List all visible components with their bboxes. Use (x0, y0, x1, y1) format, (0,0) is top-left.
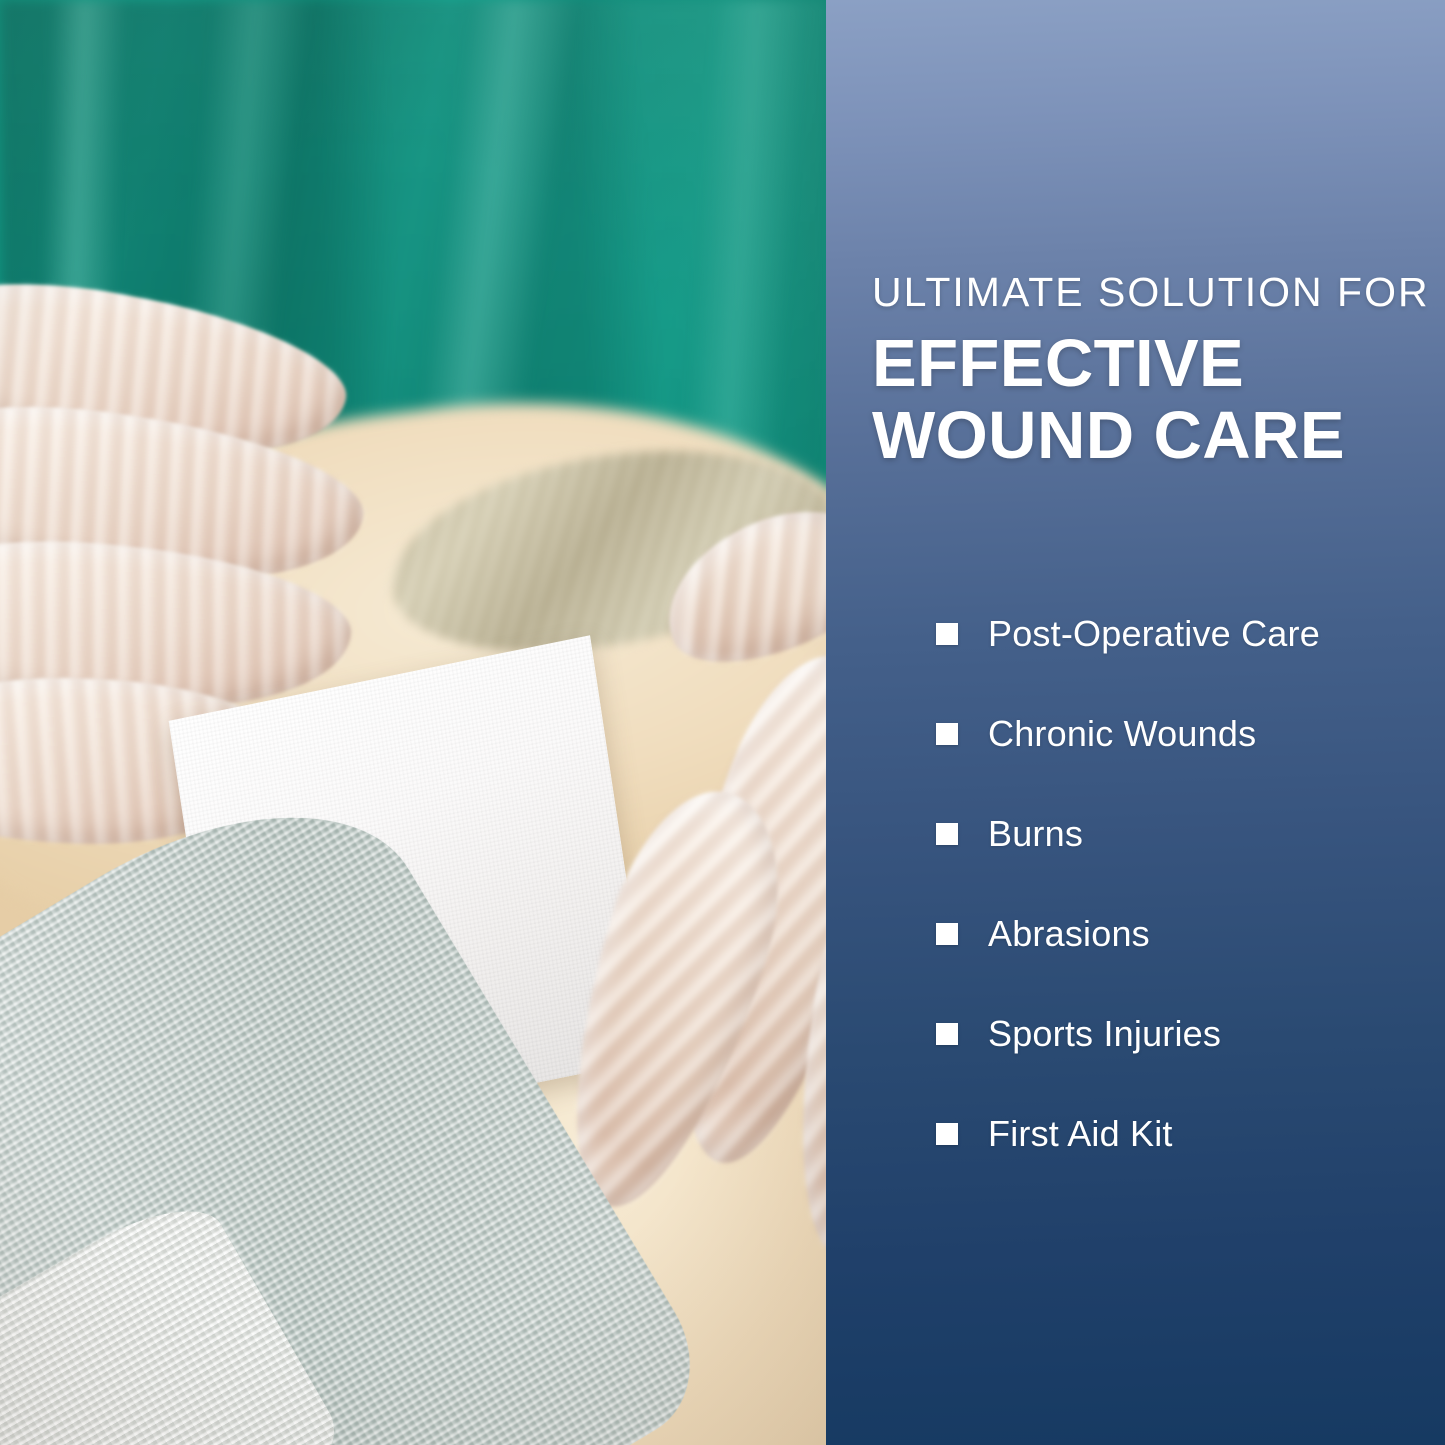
benefit-label: Burns (988, 816, 1083, 852)
square-bullet-icon (936, 1123, 958, 1145)
benefit-label: Post-Operative Care (988, 616, 1320, 652)
kicker-text: ULTIMATE SOLUTION FOR (872, 272, 1432, 313)
square-bullet-icon (936, 723, 958, 745)
headline-line-2: WOUND CARE (872, 400, 1432, 472)
benefit-label: Chronic Wounds (988, 716, 1256, 752)
gloved-right-hand (600, 530, 826, 1250)
list-item: Chronic Wounds (936, 684, 1436, 784)
list-item: First Aid Kit (936, 1084, 1436, 1184)
product-feature-poster: ULTIMATE SOLUTION FOR EFFECTIVE WOUND CA… (0, 0, 1445, 1445)
list-item: Burns (936, 784, 1436, 884)
benefits-list: Post-Operative Care Chronic Wounds Burns… (936, 584, 1436, 1184)
square-bullet-icon (936, 1023, 958, 1045)
info-panel: ULTIMATE SOLUTION FOR EFFECTIVE WOUND CA… (826, 0, 1445, 1445)
list-item: Sports Injuries (936, 984, 1436, 1084)
list-item: Post-Operative Care (936, 584, 1436, 684)
benefit-label: Abrasions (988, 916, 1150, 952)
square-bullet-icon (936, 623, 958, 645)
square-bullet-icon (936, 923, 958, 945)
benefit-label: Sports Injuries (988, 1016, 1221, 1052)
square-bullet-icon (936, 823, 958, 845)
wound-care-photo (0, 0, 826, 1445)
page-title: EFFECTIVE WOUND CARE (872, 328, 1432, 471)
headline-block: ULTIMATE SOLUTION FOR EFFECTIVE WOUND CA… (872, 272, 1432, 471)
list-item: Abrasions (936, 884, 1436, 984)
headline-line-1: EFFECTIVE (872, 328, 1432, 400)
benefit-label: First Aid Kit (988, 1116, 1173, 1152)
